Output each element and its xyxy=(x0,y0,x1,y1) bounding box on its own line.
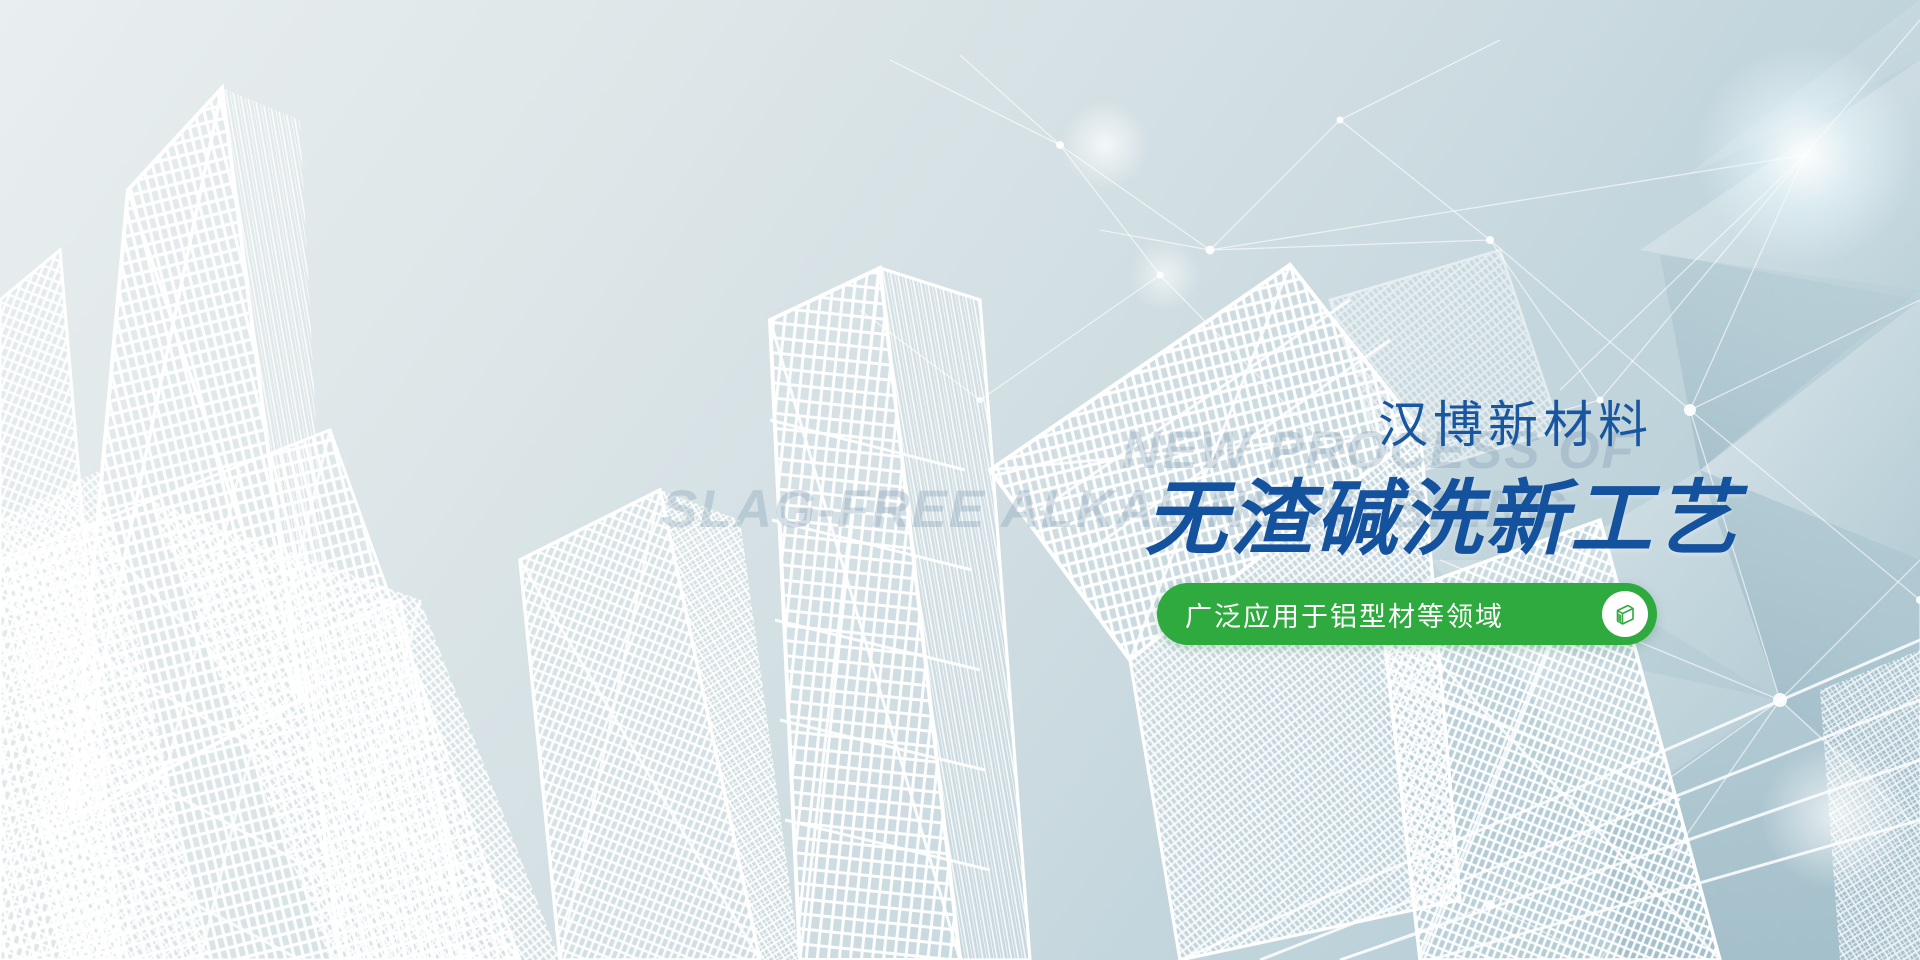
application-scope-label: 广泛应用于铝型材等领域 xyxy=(1185,595,1504,634)
application-scope-badge[interactable]: 广泛应用于铝型材等领域 xyxy=(1157,583,1657,645)
aluminium-profile-icon xyxy=(1602,591,1648,637)
wireframe-buildings xyxy=(0,0,1920,960)
hero-banner: NEW PROCESS OF SLAG-FREE ALKALINE WASHIN… xyxy=(0,0,1920,960)
